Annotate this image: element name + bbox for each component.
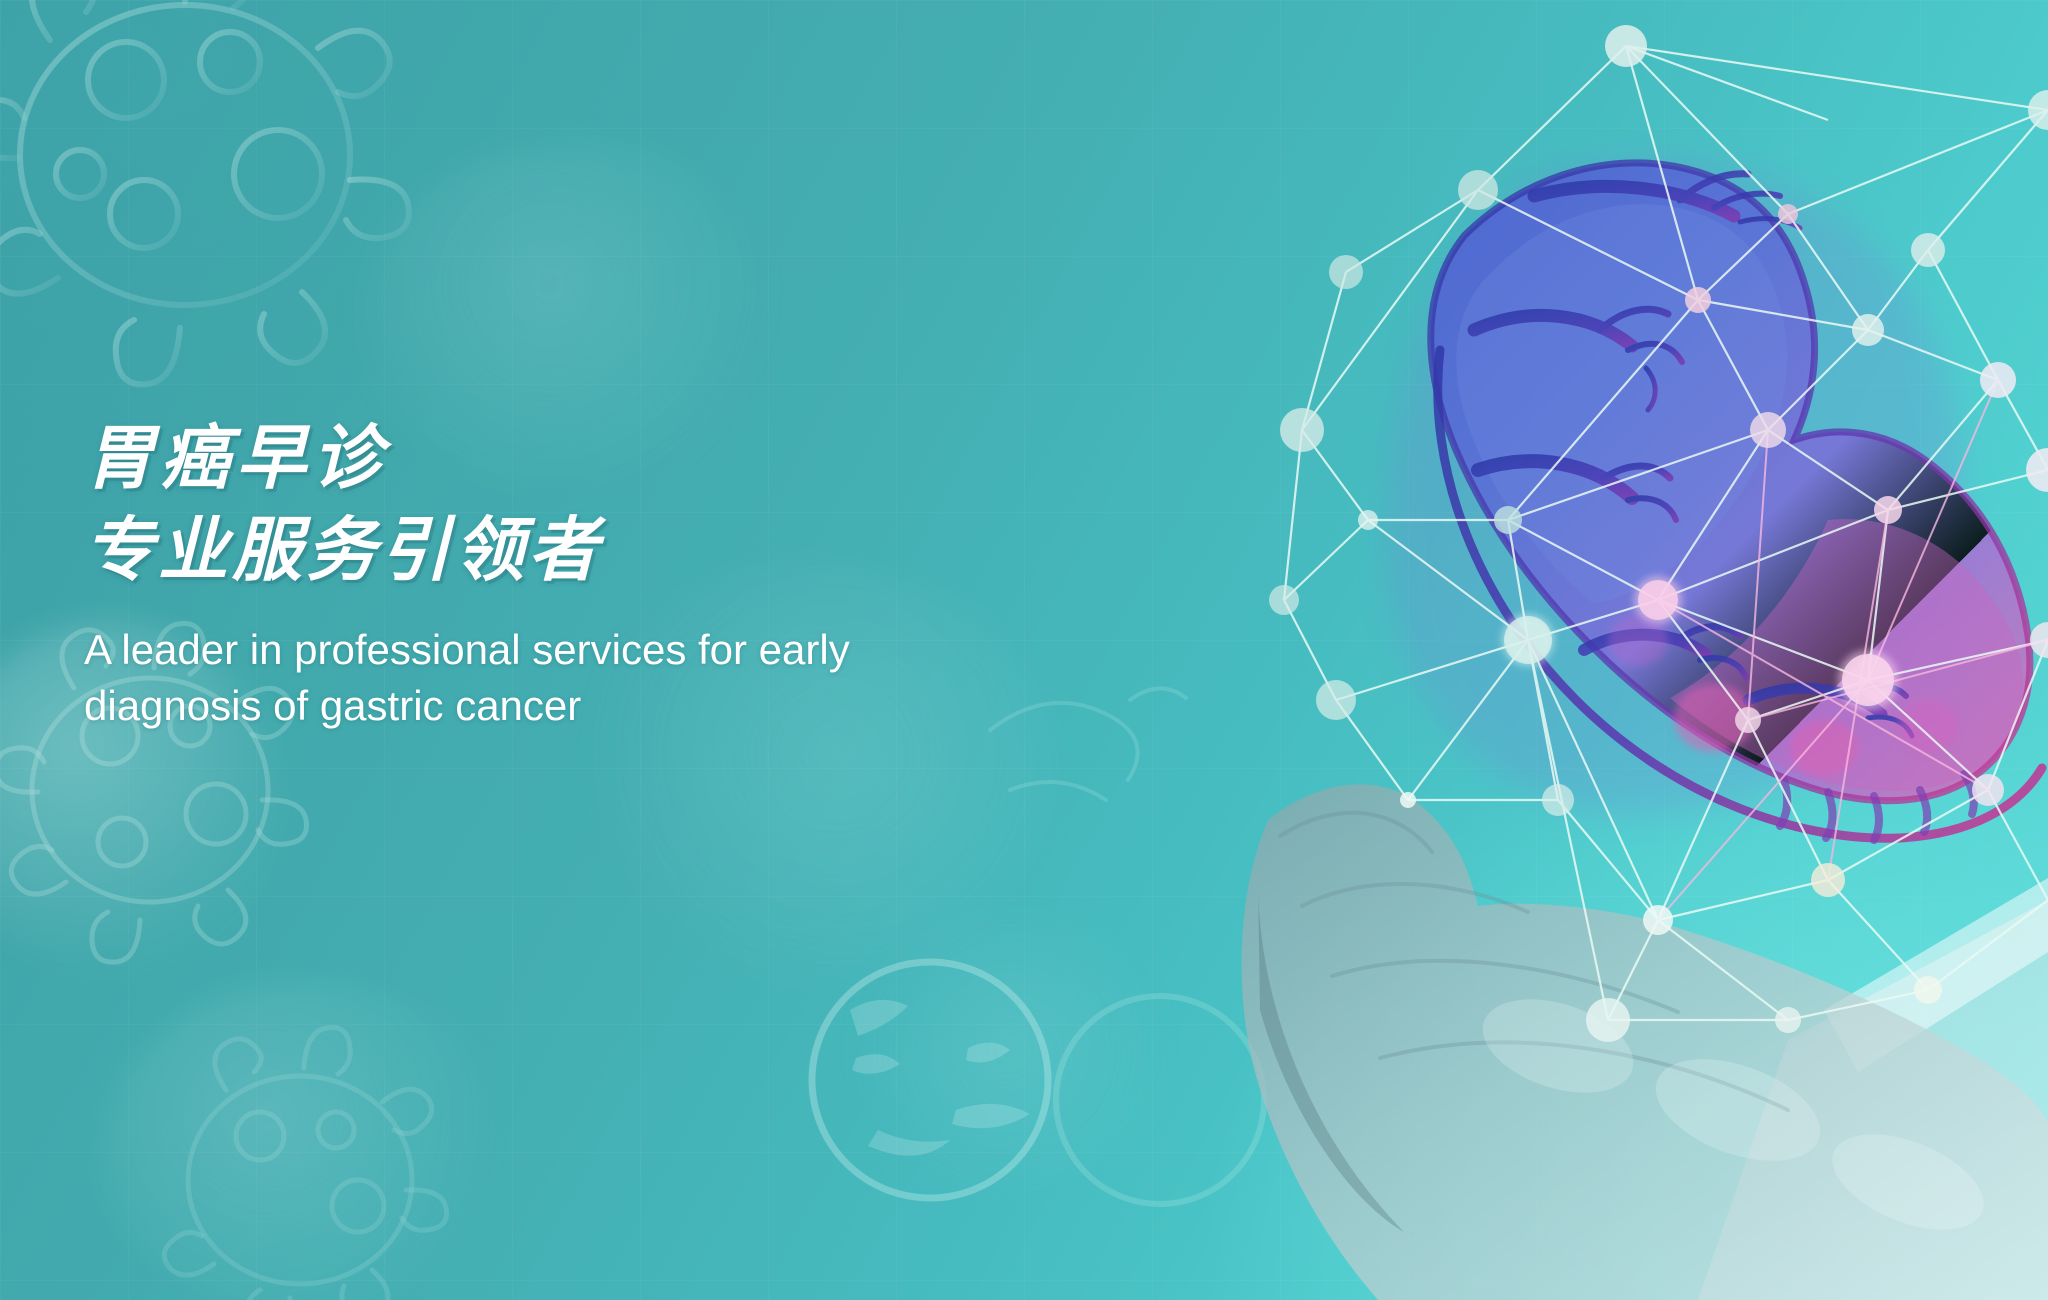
- virus-icon: [120, 1010, 500, 1300]
- cell-blob: [100, 980, 520, 1300]
- subtitle-english: A leader in professional services for ea…: [84, 622, 864, 734]
- stomach-network-artwork: [1228, 0, 2048, 1300]
- virus-icon: [0, 0, 470, 390]
- stomach-illustration: [1387, 158, 2042, 840]
- open-hand-illustration: [1242, 784, 2048, 1300]
- network-node: [1269, 25, 2048, 1042]
- subtitle-english-line-2: diagnosis of gastric cancer: [84, 678, 864, 734]
- headline-chinese-line-2: 专业服务引领者: [84, 504, 1084, 596]
- cell-ring-icon: [1010, 960, 1310, 1240]
- cell-ring-icon: [760, 930, 1120, 1230]
- subtitle-english-line-1: A leader in professional services for ea…: [84, 622, 864, 678]
- headline-block: 胃癌早诊 专业服务引领者 A leader in professional se…: [84, 412, 1084, 734]
- network-mesh: [1269, 25, 2048, 1042]
- banner-hero: 胃癌早诊 专业服务引领者 A leader in professional se…: [0, 0, 2048, 1300]
- headline-chinese-line-1: 胃癌早诊: [84, 412, 1084, 504]
- cell-blob: [840, 900, 1180, 1200]
